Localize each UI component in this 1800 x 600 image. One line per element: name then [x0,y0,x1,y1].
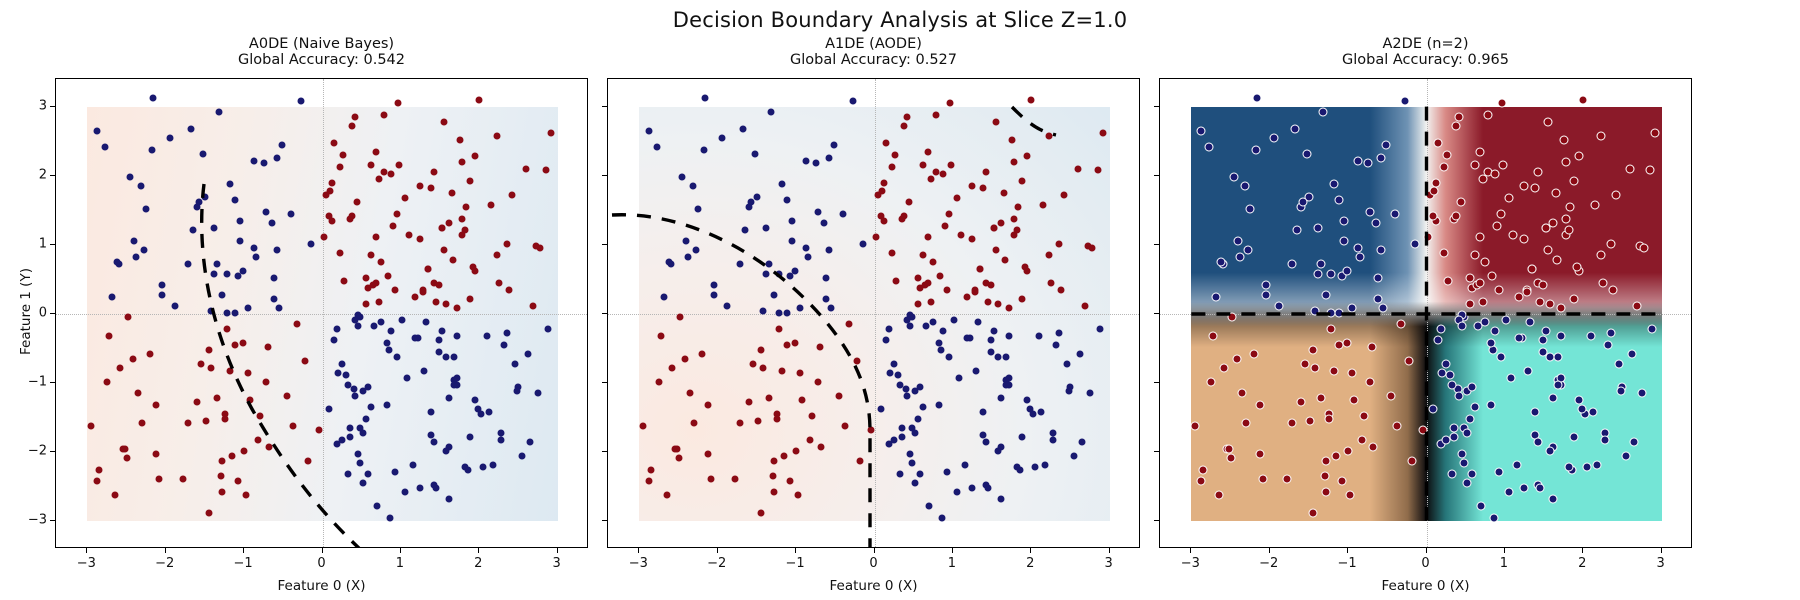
decision-boundary [1160,79,1692,548]
panel-title-a0de: A0DE (Naive Bayes)Global Accuracy: 0.542 [55,36,588,68]
x-tick-label: −3 [629,556,648,571]
panel-accuracy-label: Global Accuracy: 0.965 [1159,52,1692,68]
y-tick [602,106,607,107]
y-tick [1154,313,1159,314]
y-tick-label: 1 [15,236,47,251]
y-tick [50,382,55,383]
x-tick [322,548,323,553]
x-tick [400,548,401,553]
panel-model-name: A1DE (AODE) [607,36,1140,52]
panel-accuracy-label: Global Accuracy: 0.527 [607,52,1140,68]
y-tick [602,520,607,521]
y-tick-label: 2 [15,167,47,182]
x-tick-label: −1 [1338,556,1357,571]
x-tick [717,548,718,553]
y-axis-label: Feature 1 (Y) [18,268,34,355]
y-tick [1154,520,1159,521]
x-tick-label: 0 [869,556,877,571]
x-tick [86,548,87,553]
x-tick-label: −2 [155,556,174,571]
y-tick [50,244,55,245]
x-tick-label: −3 [77,556,96,571]
x-tick [874,548,875,553]
x-tick [243,548,244,553]
y-tick [50,520,55,521]
panel-accuracy-label: Global Accuracy: 0.542 [55,52,588,68]
x-axis-label: Feature 0 (X) [607,578,1140,594]
panel-model-name: A0DE (Naive Bayes) [55,36,588,52]
y-tick [1154,244,1159,245]
panel-model-name: A2DE (n=2) [1159,36,1692,52]
x-tick [1109,548,1110,553]
x-tick-label: 3 [1657,556,1665,571]
boundary-path [1012,107,1056,135]
x-tick-label: 2 [1026,556,1034,571]
x-tick [795,548,796,553]
x-tick-label: 0 [1421,556,1429,571]
x-tick [165,548,166,553]
panel-title-a2de: A2DE (n=2)Global Accuracy: 0.965 [1159,36,1692,68]
x-tick-label: 0 [317,556,325,571]
y-tick-label: −1 [15,375,47,390]
x-tick [638,548,639,553]
y-tick [602,313,607,314]
y-tick [602,175,607,176]
figure-title: Decision Boundary Analysis at Slice Z=1.… [0,8,1800,32]
y-tick [1154,451,1159,452]
figure-canvas: Decision Boundary Analysis at Slice Z=1.… [0,0,1800,600]
x-tick [1269,548,1270,553]
y-tick [1154,382,1159,383]
y-tick-label: 3 [15,98,47,113]
y-tick [50,451,55,452]
x-tick [1504,548,1505,553]
y-tick [1154,175,1159,176]
x-axis-label: Feature 0 (X) [55,578,588,594]
x-tick-label: 1 [396,556,404,571]
x-tick [952,548,953,553]
x-axis-label: Feature 0 (X) [1159,578,1692,594]
plot-area-a1de [607,78,1140,548]
y-tick [1154,106,1159,107]
x-tick-label: 2 [474,556,482,571]
boundary-path [202,184,362,548]
x-tick-label: 3 [1105,556,1113,571]
x-tick-label: −2 [707,556,726,571]
x-tick-label: −1 [786,556,805,571]
y-tick-label: −3 [15,513,47,528]
boundary-path [612,215,870,548]
x-tick [1030,548,1031,553]
x-tick-label: −2 [1259,556,1278,571]
y-tick-label: −2 [15,444,47,459]
x-tick [1426,548,1427,553]
y-tick [602,244,607,245]
plot-area-a2de [1159,78,1692,548]
plot-area-a0de [55,78,588,548]
panel-title-a1de: A1DE (AODE)Global Accuracy: 0.527 [607,36,1140,68]
x-tick [1190,548,1191,553]
x-tick [557,548,558,553]
x-tick-label: 1 [948,556,956,571]
y-tick [50,175,55,176]
x-tick-label: 2 [1578,556,1586,571]
y-tick [602,382,607,383]
decision-boundary [56,79,588,548]
x-tick [478,548,479,553]
x-tick-label: −3 [1181,556,1200,571]
x-tick-label: 1 [1500,556,1508,571]
x-tick-label: −1 [234,556,253,571]
y-tick [602,451,607,452]
y-tick [50,313,55,314]
x-tick-label: 3 [553,556,561,571]
decision-boundary [608,79,1140,548]
x-tick [1661,548,1662,553]
x-tick [1582,548,1583,553]
y-tick [50,106,55,107]
x-tick [1347,548,1348,553]
